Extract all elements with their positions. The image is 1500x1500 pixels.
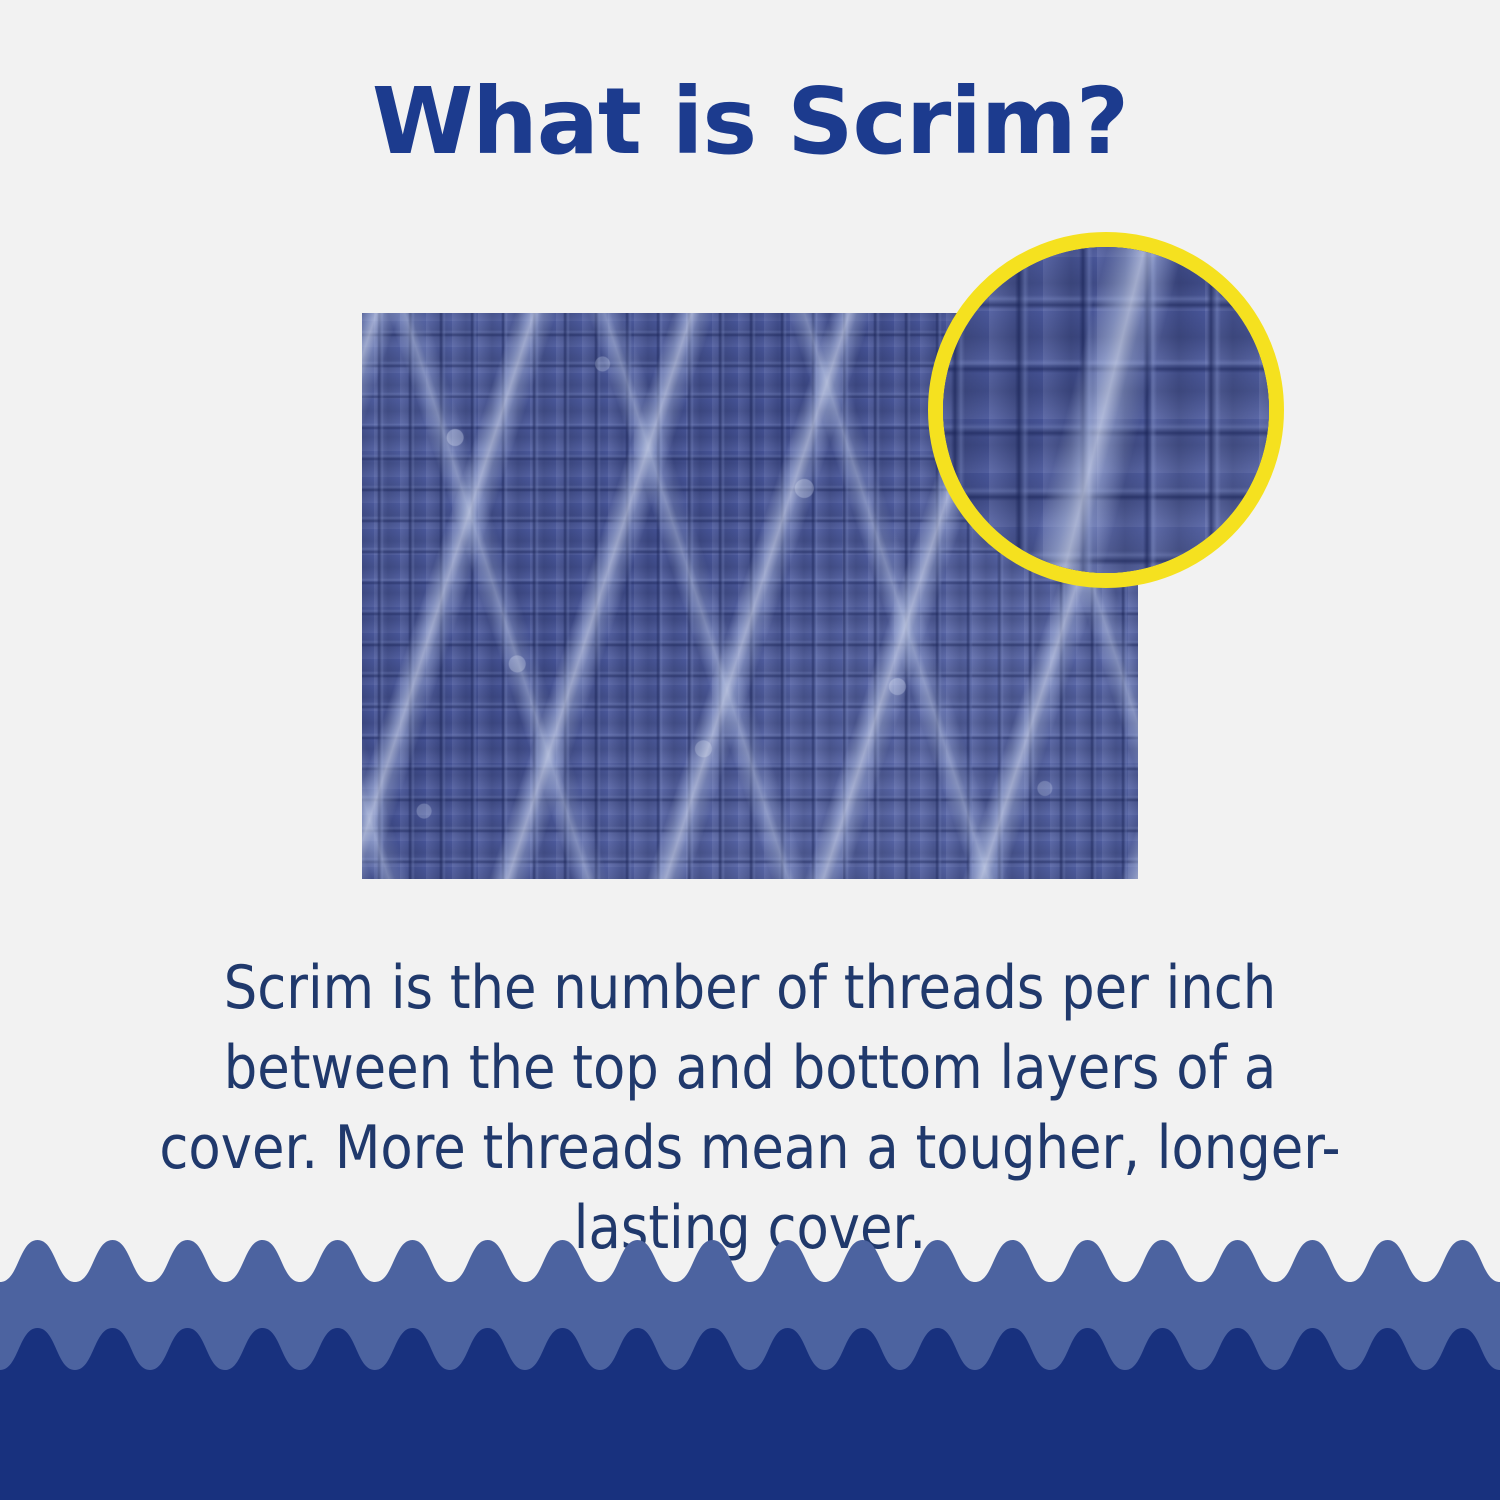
page-title: What is Scrim?	[0, 76, 1500, 168]
wave-decoration	[0, 1230, 1500, 1500]
magnifier-circle	[928, 232, 1284, 588]
description-paragraph: Scrim is the number of threads per inch …	[143, 948, 1357, 1268]
magnifier-weave-detail	[928, 232, 1284, 588]
infographic-canvas: What is Scrim? Scrim is the number of th…	[0, 0, 1500, 1500]
